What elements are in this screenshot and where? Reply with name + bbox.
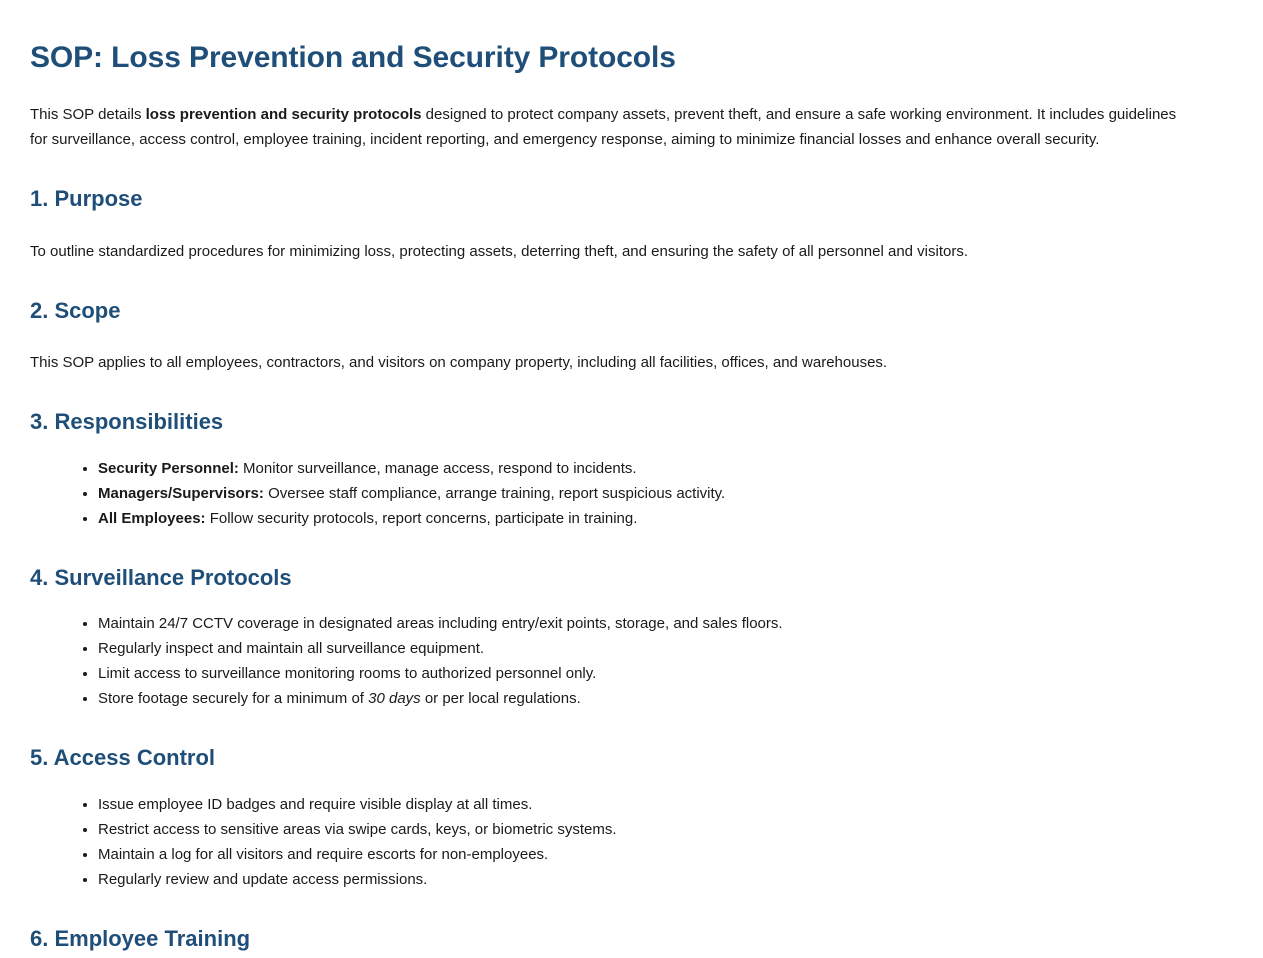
list-item-text: Maintain a log for all visitors and requ… [98, 846, 548, 863]
list-item: Maintain a log for all visitors and requ… [98, 842, 1233, 867]
page-title: SOP: Loss Prevention and Security Protoc… [30, 30, 1233, 76]
section-heading-purpose: 1. Purpose [30, 185, 1233, 213]
intro-strong-phrase: loss prevention and security protocols [146, 106, 422, 123]
section-heading-responsibilities: 3. Responsibilities [30, 408, 1233, 436]
responsibilities-list: Security Personnel: Monitor surveillance… [30, 456, 1233, 531]
section-heading-employee-training: 6. Employee Training [30, 925, 1233, 953]
surveillance-protocols-list: Maintain 24/7 CCTV coverage in designate… [30, 611, 1233, 711]
list-item: Limit access to surveillance monitoring … [98, 661, 1233, 686]
section-paragraph-purpose: To outline standardized procedures for m… [30, 239, 1190, 264]
list-item-lead-in: Managers/Supervisors: [98, 485, 264, 502]
list-item-text-before: Store footage securely for a minimum of [98, 690, 368, 707]
list-item-text: Issue employee ID badges and require vis… [98, 796, 532, 813]
section-heading-scope: 2. Scope [30, 297, 1233, 325]
list-item-text: Restrict access to sensitive areas via s… [98, 821, 617, 838]
list-item-text: Monitor surveillance, manage access, res… [239, 460, 637, 477]
list-item-text: Oversee staff compliance, arrange traini… [264, 485, 725, 502]
list-item-lead-in: Security Personnel: [98, 460, 239, 477]
section-heading-access-control: 5. Access Control [30, 744, 1233, 772]
list-item-text-after: or per local regulations. [421, 690, 581, 707]
list-item: All Employees: Follow security protocols… [98, 506, 1233, 531]
intro-paragraph: This SOP details loss prevention and sec… [30, 102, 1190, 152]
list-item: Regularly review and update access permi… [98, 867, 1233, 892]
list-item-lead-in: All Employees: [98, 510, 206, 527]
list-item: Security Personnel: Monitor surveillance… [98, 456, 1233, 481]
list-item-text: Follow security protocols, report concer… [206, 510, 638, 527]
list-item: Store footage securely for a minimum of … [98, 686, 1233, 711]
list-item-text: Maintain 24/7 CCTV coverage in designate… [98, 615, 783, 632]
list-item: Issue employee ID badges and require vis… [98, 792, 1233, 817]
list-item-text: Regularly inspect and maintain all surve… [98, 640, 484, 657]
list-item-emphasis: 30 days [368, 690, 421, 707]
intro-text-part1: This SOP details [30, 106, 146, 123]
list-item: Regularly inspect and maintain all surve… [98, 636, 1233, 661]
list-item: Restrict access to sensitive areas via s… [98, 817, 1233, 842]
list-item-text: Regularly review and update access permi… [98, 871, 427, 888]
list-item-text: Limit access to surveillance monitoring … [98, 665, 596, 682]
list-item: Maintain 24/7 CCTV coverage in designate… [98, 611, 1233, 636]
list-item: Managers/Supervisors: Oversee staff comp… [98, 481, 1233, 506]
access-control-list: Issue employee ID badges and require vis… [30, 792, 1233, 892]
document-page: SOP: Loss Prevention and Security Protoc… [0, 0, 1263, 952]
section-heading-surveillance-protocols: 4. Surveillance Protocols [30, 564, 1233, 592]
section-paragraph-scope: This SOP applies to all employees, contr… [30, 350, 1190, 375]
